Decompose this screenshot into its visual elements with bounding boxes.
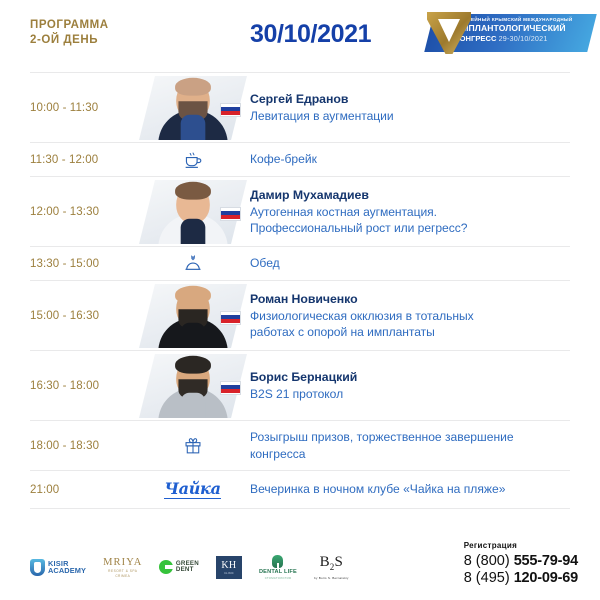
dentallife-line2: СТОМАТОЛОГИЯ: [259, 576, 297, 580]
kisir-line2: ACADEMY: [48, 567, 86, 575]
sponsor-logo-kh: KH CLINIC: [216, 556, 242, 579]
registration-phone-2[interactable]: 8 (495) 120-09-69: [464, 570, 578, 588]
registration-phone-1[interactable]: 8 (800) 555-79-94: [464, 553, 578, 571]
russia-flag-icon: [220, 381, 241, 395]
registration-block: Регистрация 8 (800) 555-79-94 8 (495) 12…: [454, 541, 578, 588]
logo-line-1: ЮБИЛЕЙНЫЙ КРЫМСКИЙ МЕЖДУНАРОДНЫЙ: [455, 16, 592, 23]
b2s-subtitle: by Boris S. Bernatskiy: [314, 576, 349, 580]
row-media: Чайка: [135, 481, 250, 499]
schedule-row[interactable]: 16:30 - 18:00 Борис Бернацкий: [30, 350, 570, 420]
sponsor-logos: KISIR ACADEMY MRIYA RESORT & SPA CRIMEA …: [30, 548, 454, 580]
program-date: 30/10/2021: [250, 20, 371, 49]
speaker-name: Дамир Мухамадиев: [250, 187, 570, 204]
row-media: [135, 354, 250, 418]
mriya-line2: RESORT & SPA: [103, 569, 142, 573]
speaker-photo: [147, 284, 239, 348]
schedule-row[interactable]: 18:00 - 18:30 Розыгрыш призов, торжестве…: [30, 420, 570, 470]
session-topic: Левитация в аугментации: [250, 108, 570, 125]
row-media: [135, 436, 250, 455]
row-content: Кофе-брейк: [250, 143, 570, 176]
schedule-row[interactable]: 13:30 - 15:00 Обед: [30, 246, 570, 280]
phone2-number: 120-09-69: [514, 570, 578, 586]
header: ПРОГРАММА 2-ОЙ ДЕНЬ 30/10/2021 ЮБИЛЕЙНЫЙ…: [0, 0, 600, 72]
row-time: 16:30 - 18:00: [30, 380, 135, 392]
logo-line-3: КОНГРЕСС 29-30/10/2021: [455, 34, 592, 44]
schedule-row[interactable]: 10:00 - 11:30 Сергей Едранов: [30, 72, 570, 142]
row-time: 13:30 - 15:00: [30, 258, 135, 270]
row-media: [135, 76, 250, 140]
food-cloche-icon: [183, 254, 203, 273]
kh-line1: KH: [221, 560, 236, 571]
row-content: Дамир Мухамадиев Аутогенная костная аугм…: [250, 179, 570, 245]
schedule-list: 10:00 - 11:30 Сергей Едранов: [0, 72, 600, 509]
schedule-bottom-divider: [30, 508, 570, 509]
schedule-row[interactable]: 11:30 - 12:00 Кофе-брейк: [30, 142, 570, 176]
session-topic: Обед: [250, 255, 570, 272]
b2s-wordmark: B2S: [314, 554, 349, 575]
row-time: 12:00 - 13:30: [30, 206, 135, 218]
sponsor-logo-mriya: MRIYA RESORT & SPA CRIMEA: [103, 557, 142, 578]
speaker-name: Роман Новиченко: [250, 291, 570, 308]
row-time: 21:00: [30, 484, 135, 496]
greendent-line2: DENT: [176, 567, 199, 574]
kh-line2: CLINIC: [224, 572, 234, 575]
row-time: 11:30 - 12:00: [30, 154, 135, 166]
dentallife-line1: DENTAL LIFE: [259, 569, 297, 575]
congress-logo: ЮБИЛЕЙНЫЙ КРЫМСКИЙ МЕЖДУНАРОДНЫЙ ИМПЛАНТ…: [407, 10, 592, 56]
sponsor-logo-dental-life: DENTAL LIFE СТОМАТОЛОГИЯ: [259, 555, 297, 580]
row-content: Вечеринка в ночном клубе «Чайка на пляже…: [250, 473, 570, 506]
registration-title: Регистрация: [464, 541, 578, 550]
session-topic: Вечеринка в ночном клубе «Чайка на пляже…: [250, 481, 570, 498]
speaker-photo: [147, 354, 239, 418]
kisir-tooth-icon: [30, 559, 45, 576]
session-topic: Кофе-брейк: [250, 151, 570, 168]
footer: KISIR ACADEMY MRIYA RESORT & SPA CRIMEA …: [0, 528, 600, 600]
sponsor-logo-kisir-academy: KISIR ACADEMY: [30, 559, 86, 576]
gift-icon: [184, 436, 202, 455]
row-media: [135, 180, 250, 244]
speaker-photo: [147, 180, 239, 244]
speaker-name: Сергей Едранов: [250, 91, 570, 108]
phone1-prefix: 8 (800): [464, 553, 514, 569]
row-media: [135, 151, 250, 169]
session-topic: Розыгрыш призов, торжественное завершени…: [250, 429, 570, 462]
schedule-row[interactable]: 15:00 - 16:30 Роман Новиченко: [30, 280, 570, 350]
mriya-line1: MRIYA: [103, 557, 142, 568]
session-topic: B2S 21 протокол: [250, 386, 570, 403]
conference-program-poster: ПРОГРАММА 2-ОЙ ДЕНЬ 30/10/2021 ЮБИЛЕЙНЫЙ…: [0, 0, 600, 600]
sponsor-logo-b2s: B2S by Boris S. Bernatskiy: [314, 554, 349, 580]
session-topic: Аутогенная костная аугментация. Професси…: [250, 204, 570, 237]
phone1-number: 555-79-94: [514, 553, 578, 569]
logo-text-block: ЮБИЛЕЙНЫЙ КРЫМСКИЙ МЕЖДУНАРОДНЫЙ ИМПЛАНТ…: [455, 16, 592, 50]
row-content: Сергей Едранов Левитация в аугментации: [250, 83, 570, 133]
chaika-logo-icon: Чайка: [164, 481, 220, 499]
row-content: Борис Бернацкий B2S 21 протокол: [250, 361, 570, 411]
row-time: 15:00 - 16:30: [30, 310, 135, 322]
row-content: Розыгрыш призов, торжественное завершени…: [250, 421, 570, 470]
session-topic: Физиологическая окклюзия в тотальных раб…: [250, 308, 570, 341]
russia-flag-icon: [220, 207, 241, 221]
logo-dates: 29-30/10/2021: [499, 34, 548, 43]
green-dent-mark-icon: [159, 560, 173, 574]
row-media: [135, 254, 250, 273]
russia-flag-icon: [220, 103, 241, 117]
coffee-cup-icon: [183, 151, 203, 169]
logo-line-2: ИМПЛАНТОЛОГИЧЕСКИЙ: [455, 23, 592, 34]
schedule-row[interactable]: 12:00 - 13:30 Дамир Мухамадиев Аутог: [30, 176, 570, 246]
russia-flag-icon: [220, 311, 241, 325]
row-content: Роман Новиченко Физиологическая окклюзия…: [250, 283, 570, 349]
speaker-name: Борис Бернацкий: [250, 369, 570, 386]
row-time: 18:00 - 18:30: [30, 440, 135, 452]
row-content: Обед: [250, 247, 570, 280]
schedule-row[interactable]: 21:00 Чайка Вечеринка в ночном клубе «Ча…: [30, 470, 570, 508]
dental-life-tooth-icon: [272, 555, 283, 568]
row-time: 10:00 - 11:30: [30, 102, 135, 114]
row-media: [135, 284, 250, 348]
sponsor-logo-green-dent: GREEN DENT: [159, 560, 199, 574]
phone2-prefix: 8 (495): [464, 570, 514, 586]
speaker-photo: [147, 76, 239, 140]
mriya-line3: CRIMEA: [103, 574, 142, 578]
